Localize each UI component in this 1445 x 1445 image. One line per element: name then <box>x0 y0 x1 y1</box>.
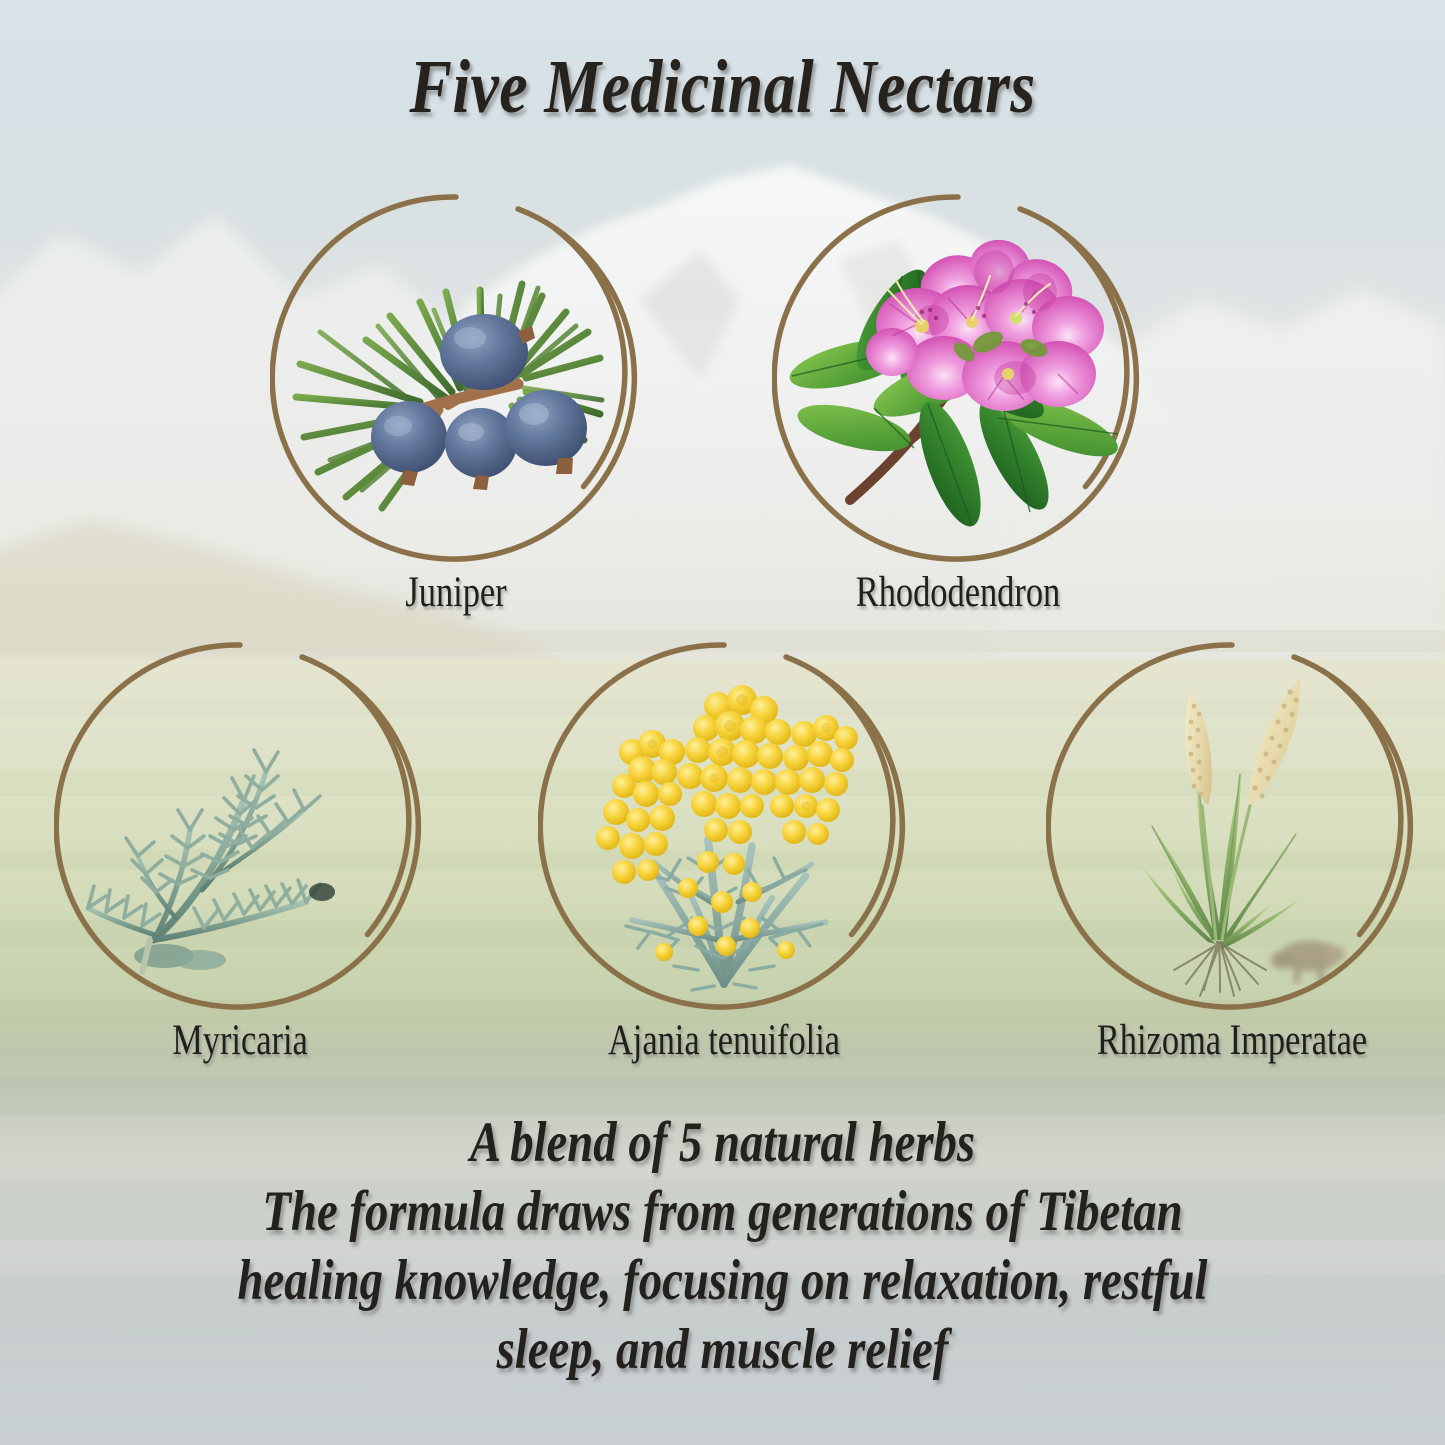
herb-label: Rhizoma Imperatae <box>1097 1016 1367 1065</box>
juniper-berries-icon <box>270 192 642 564</box>
ajania-yellow-flower-icon <box>538 640 910 1012</box>
poster-content: Five Medicinal Nectars <box>0 0 1445 1445</box>
footer-line-2: The formula draws from generations of Ti… <box>130 1177 1315 1246</box>
footer-line-3: healing knowledge, focusing on relaxatio… <box>130 1246 1315 1315</box>
imperata-grass-icon <box>1046 640 1418 1012</box>
herb-label: Myricaria <box>172 1016 308 1065</box>
herb-card-myricaria[interactable]: Myricaria <box>54 640 426 1012</box>
footer-description: A blend of 5 natural herbs The formula d… <box>0 1108 1445 1384</box>
poster: Five Medicinal Nectars <box>0 0 1445 1445</box>
footer-line-4: sleep, and muscle relief <box>130 1315 1315 1384</box>
herb-label: Ajania tenuifolia <box>608 1016 840 1065</box>
herb-label: Juniper <box>405 568 506 617</box>
page-title: Five Medicinal Nectars <box>116 44 1330 131</box>
herb-card-rhizoma-imperatae[interactable]: Rhizoma Imperatae <box>1046 640 1418 1012</box>
herb-card-juniper[interactable]: Juniper <box>270 192 642 564</box>
footer-line-1: A blend of 5 natural herbs <box>130 1108 1315 1177</box>
herb-card-rhododendron[interactable]: Rhododendron <box>772 192 1144 564</box>
myricaria-sprig-icon <box>54 640 426 1012</box>
herb-label: Rhododendron <box>856 568 1060 617</box>
herb-card-ajania[interactable]: Ajania tenuifolia <box>538 640 910 1012</box>
rhododendron-flower-icon <box>772 192 1144 564</box>
